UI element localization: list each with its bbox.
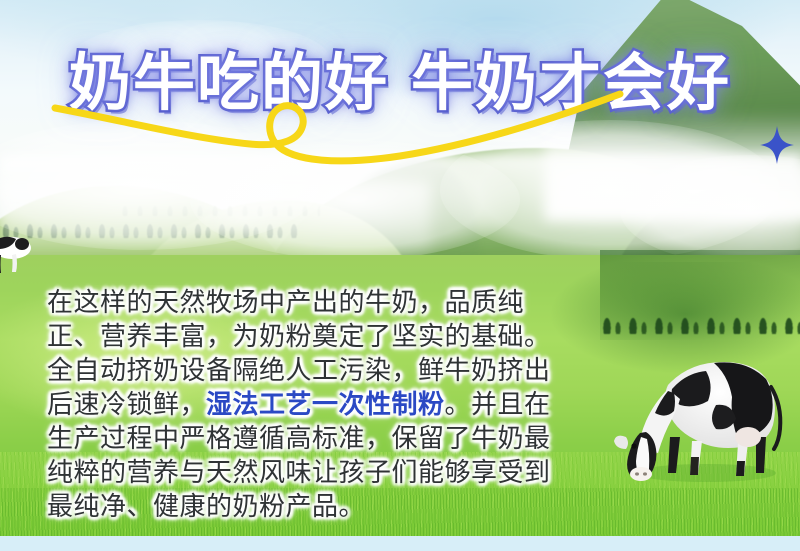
bottom-accent-bar (0, 536, 800, 551)
body-paragraph: 在这样的天然牧场中产出的牛奶，品质纯正、营养丰富，为奶粉奠定了坚实的基础。全自动… (47, 285, 567, 523)
distant-cow (0, 228, 36, 280)
sparkle-star-icon (760, 126, 794, 164)
sky-background (0, 0, 800, 240)
body-highlight-phrase: 湿法工艺一次性制粉 (206, 389, 445, 419)
poster-canvas: 奶牛吃的好牛奶才会好 在这样的天然牧场中产出的牛奶，品质纯正、营养丰富，为奶粉奠… (0, 0, 800, 551)
grazing-holstein-cow (610, 333, 788, 483)
